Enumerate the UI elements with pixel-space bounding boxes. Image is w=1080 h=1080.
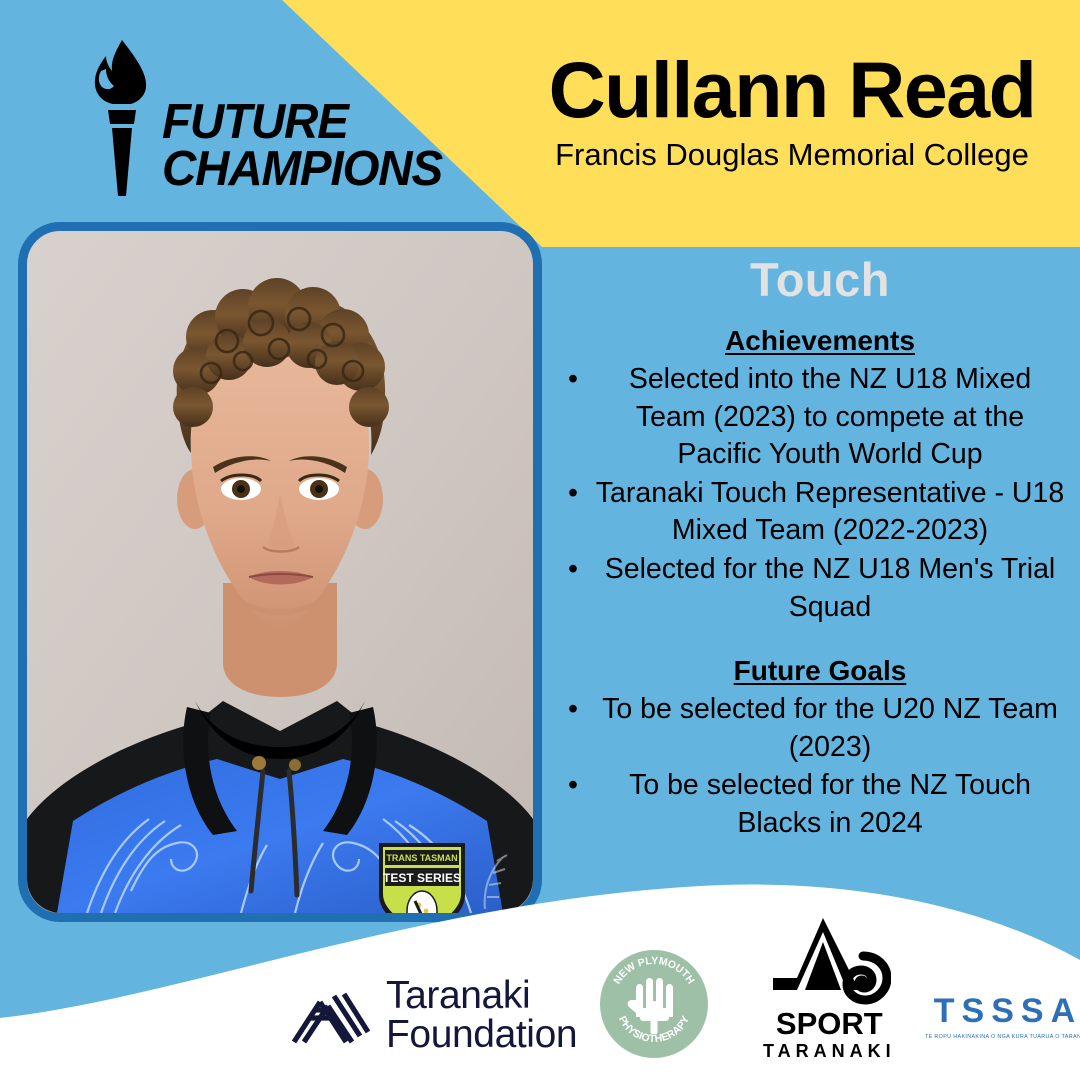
achievements-list: •Selected into the NZ U18 Mixed Team (20…: [560, 361, 1080, 626]
bullet-icon: •: [568, 475, 578, 513]
list-item-text: Taranaki Touch Representative - U18 Mixe…: [596, 477, 1064, 547]
bullet-icon: •: [568, 551, 578, 589]
future-champions-wordmark: FUTURE CHAMPIONS: [162, 99, 451, 198]
bullet-icon: •: [568, 361, 578, 399]
list-item-text: To be selected for the NZ Touch Blacks i…: [629, 769, 1031, 839]
athlete-name: Cullann Read: [512, 52, 1072, 128]
logo-line-1: FUTURE: [162, 99, 442, 147]
physiotherapy-hand-seal-icon: NEW PLYMOUTH PHYSIOTHERAPY: [600, 950, 708, 1058]
taranaki-foundation-mountain-icon: [290, 984, 372, 1046]
list-item: •Selected into the NZ U18 Mixed Team (20…: [594, 361, 1066, 474]
athlete-school: Francis Douglas Memorial College: [512, 138, 1072, 172]
list-item-text: Selected into the NZ U18 Mixed Team (202…: [629, 363, 1031, 470]
future-champions-poster: FUTURE CHAMPIONS Cullann Read Francis Do…: [0, 0, 1080, 1080]
tf-line-2: Foundation: [386, 1015, 577, 1054]
list-item-text: To be selected for the U20 NZ Team (2023…: [602, 693, 1058, 763]
torch-flame-icon: [84, 38, 158, 198]
tf-line-1: Taranaki: [386, 976, 577, 1015]
logo-line-2: CHAMPIONS: [162, 146, 442, 194]
list-item: •Taranaki Touch Representative - U18 Mix…: [594, 475, 1066, 550]
sport-taranaki-mountain-koru-icon: [767, 916, 891, 1012]
list-item: •To be selected for the NZ Touch Blacks …: [594, 767, 1066, 842]
header-text-block: Cullann Read Francis Douglas Memorial Co…: [512, 52, 1072, 172]
sponsor-new-plymouth-physiotherapy: NEW PLYMOUTH PHYSIOTHERAPY: [600, 950, 708, 1058]
athlete-photo: TRANS TASMAN TEST SERIES: [27, 231, 533, 913]
list-item: •Selected for the NZ U18 Men's Trial Squ…: [594, 551, 1066, 626]
sponsor-tsssa: TSSSA TE ROPU HAKINAKINA O NGA KURA TUAR…: [925, 994, 1080, 1040]
tsssa-wordmark: TSSSA: [934, 994, 1080, 1028]
achievements-heading: Achievements: [560, 325, 1080, 357]
tsssa-tagline: TE ROPU HAKINAKINA O NGA KURA TUARUA O T…: [925, 1035, 1080, 1040]
list-item-text: Selected for the NZ U18 Men's Trial Squa…: [605, 553, 1056, 623]
sponsor-logo-row: Taranaki Foundation: [0, 928, 1080, 1080]
future-champions-logo: FUTURE CHAMPIONS: [84, 28, 434, 198]
athlete-details-panel: Touch Achievements •Selected into the NZ…: [560, 248, 1080, 844]
future-goals-section: Future Goals •To be selected for the U20…: [560, 655, 1080, 842]
sponsor-sport-taranaki: SPORT TARANAKI: [763, 916, 896, 1060]
future-goals-heading: Future Goals: [560, 655, 1080, 687]
sport-taranaki-line-1: SPORT: [776, 1008, 883, 1039]
achievements-section: Achievements •Selected into the NZ U18 M…: [560, 325, 1080, 626]
bullet-icon: •: [568, 767, 578, 805]
bullet-icon: •: [568, 691, 578, 729]
sponsor-taranaki-foundation: Taranaki Foundation: [290, 976, 577, 1054]
athlete-photo-frame: TRANS TASMAN TEST SERIES: [18, 222, 542, 922]
section-spacer: [560, 627, 1080, 655]
list-item: •To be selected for the U20 NZ Team (202…: [594, 691, 1066, 766]
future-goals-list: •To be selected for the U20 NZ Team (202…: [560, 691, 1080, 842]
taranaki-foundation-wordmark: Taranaki Foundation: [386, 976, 577, 1054]
sport-taranaki-line-2: TARANAKI: [763, 1042, 896, 1060]
athlete-portrait-image: TRANS TASMAN TEST SERIES: [27, 231, 533, 913]
sport-title: Touch: [560, 256, 1080, 303]
